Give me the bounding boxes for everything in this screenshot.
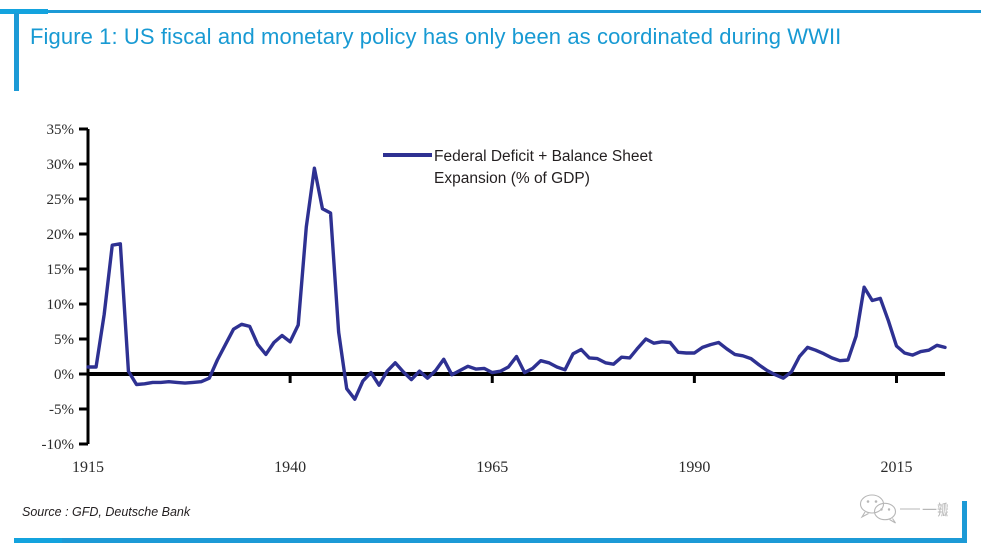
legend-label-line2: Expansion (% of GDP) bbox=[434, 170, 590, 187]
y-tick-label: -10% bbox=[42, 437, 75, 453]
source-note: Source : GFD, Deutsche Bank bbox=[22, 505, 190, 519]
x-tick-label: 1965 bbox=[476, 459, 508, 476]
y-tick-label: -5% bbox=[49, 402, 74, 418]
x-tick-label: 1915 bbox=[72, 459, 104, 476]
y-tick-label: 0% bbox=[54, 367, 74, 383]
wechat-logo-watermark: 一瓣 bbox=[852, 491, 948, 525]
x-tick-label: 1990 bbox=[678, 459, 710, 476]
x-tick-label: 1940 bbox=[274, 459, 306, 476]
top-rule-accent bbox=[0, 9, 48, 14]
top-rule bbox=[0, 10, 981, 13]
y-tick-label: 30% bbox=[47, 157, 75, 173]
y-tick-label: 10% bbox=[47, 297, 75, 313]
series-line-federal-deficit bbox=[88, 168, 945, 399]
legend-label-line1: Federal Deficit + Balance Sheet bbox=[434, 148, 653, 165]
y-tick-label: 20% bbox=[47, 227, 75, 243]
right-rule bbox=[962, 501, 967, 543]
bottom-rule bbox=[14, 538, 967, 543]
figure-title: Figure 1: US fiscal and monetary policy … bbox=[30, 22, 930, 52]
bottom-rule-accent bbox=[14, 538, 62, 543]
watermark-text: 一瓣 bbox=[922, 502, 948, 519]
x-tick-label: 2015 bbox=[880, 459, 912, 476]
y-tick-label: 35% bbox=[47, 122, 75, 138]
x-axis-ticks: 19151940196519902015 bbox=[72, 376, 912, 476]
y-tick-label: 25% bbox=[47, 192, 75, 208]
y-axis-ticks: 35%30%25%20%15%10%5%0%-5%-10% bbox=[42, 122, 89, 453]
y-tick-label: 15% bbox=[47, 262, 75, 278]
line-chart: 35%30%25%20%15%10%5%0%-5%-10% 1915194019… bbox=[0, 110, 981, 485]
y-tick-label: 5% bbox=[54, 332, 74, 348]
left-rule bbox=[14, 13, 19, 91]
chart-legend: Federal Deficit + Balance Sheet Expansio… bbox=[383, 148, 653, 187]
figure-container: Figure 1: US fiscal and monetary policy … bbox=[0, 0, 981, 553]
chart-area: 35%30%25%20%15%10%5%0%-5%-10% 1915194019… bbox=[0, 110, 981, 485]
